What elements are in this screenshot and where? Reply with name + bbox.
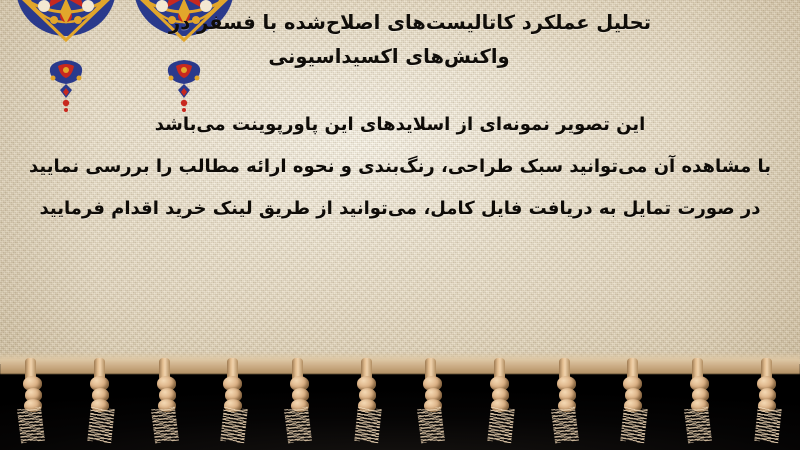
slide-canvas: تحلیل عملکرد کاتالیست‌های اصلاح‌شده با ف…	[0, 0, 800, 450]
slide-title-line-2: واکنش‌های اکسیداسیونی	[20, 40, 800, 74]
slide-title: تحلیل عملکرد کاتالیست‌های اصلاح‌شده با ف…	[0, 6, 800, 74]
slide-body-line-1: این تصویر نمونه‌ای از اسلایدهای این پاور…	[0, 104, 800, 146]
slide-title-line-1: تحلیل عملکرد کاتالیست‌های اصلاح‌شده با ف…	[20, 6, 800, 40]
slide-body-line-3: در صورت تمایل به دریافت فایل کامل، می‌تو…	[0, 188, 800, 230]
slide-body-line-2: با مشاهده آن می‌توانید سبک طراحی، رنگ‌بن…	[0, 146, 800, 188]
bottom-black-band	[0, 364, 800, 450]
carpet-selvage-edge	[0, 352, 800, 374]
slide-body: این تصویر نمونه‌ای از اسلایدهای این پاور…	[0, 104, 800, 230]
